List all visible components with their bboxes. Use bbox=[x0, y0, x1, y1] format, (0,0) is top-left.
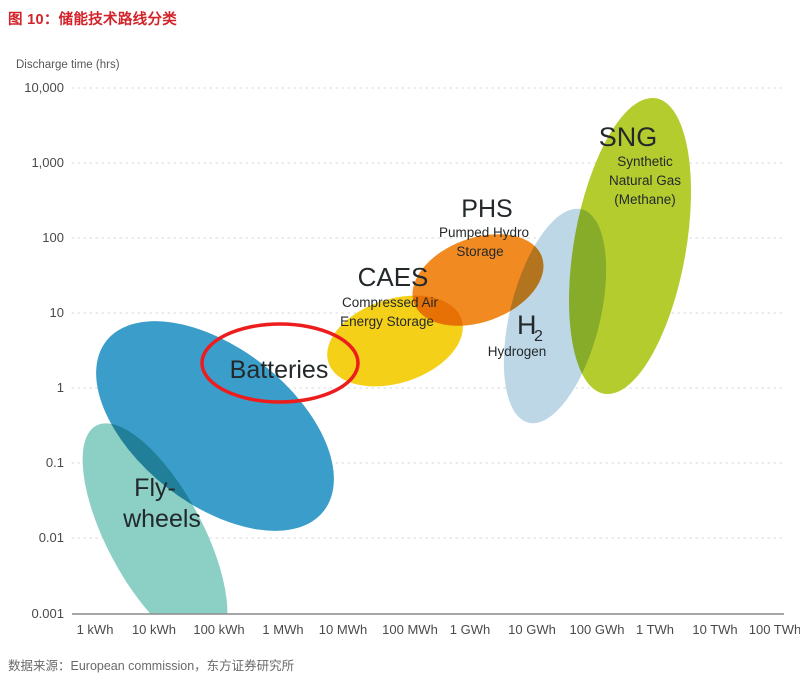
sng-title: SNG bbox=[599, 122, 658, 152]
x-tick-4: 10 MWh bbox=[319, 622, 367, 637]
y-tick-0: 10,000 bbox=[24, 80, 64, 95]
phs-sub-1: Storage bbox=[456, 244, 503, 259]
caes-sub-0: Compressed Air bbox=[342, 295, 439, 310]
y-tick-4: 1 bbox=[57, 380, 64, 395]
x-tick-0: 1 kWh bbox=[77, 622, 114, 637]
figure-title: 图 10：储能技术路线分类 bbox=[8, 8, 177, 29]
chart-area: Discharge time (hrs) 10,000 1,000 100 10… bbox=[0, 46, 800, 646]
x-axis-ticks: 1 kWh 10 kWh 100 kWh 1 MWh 10 MWh 100 MW… bbox=[77, 622, 800, 637]
storage-technology-scatter-chart: Discharge time (hrs) 10,000 1,000 100 10… bbox=[0, 46, 800, 646]
y-tick-5: 0.1 bbox=[46, 455, 64, 470]
x-tick-8: 100 GWh bbox=[570, 622, 625, 637]
y-tick-1: 1,000 bbox=[31, 155, 64, 170]
caes-title: CAES bbox=[358, 262, 429, 292]
y-tick-2: 100 bbox=[42, 230, 64, 245]
sng-sub-2: (Methane) bbox=[614, 192, 676, 207]
hydrogen-title-subscript: 2 bbox=[534, 328, 543, 345]
x-tick-10: 10 TWh bbox=[692, 622, 737, 637]
y-tick-7: 0.001 bbox=[31, 606, 64, 621]
batteries-title: Batteries bbox=[230, 356, 329, 384]
bubble-label-batteries: Batteries bbox=[230, 356, 329, 384]
x-tick-6: 1 GWh bbox=[450, 622, 490, 637]
sng-sub-1: Natural Gas bbox=[609, 173, 681, 188]
y-tick-3: 10 bbox=[50, 305, 64, 320]
y-axis-title: Discharge time (hrs) bbox=[16, 59, 120, 71]
x-tick-5: 100 MWh bbox=[382, 622, 438, 637]
hydrogen-sub-0: Hydrogen bbox=[488, 344, 547, 359]
x-tick-11: 100 TWh bbox=[749, 622, 800, 637]
source-note: 数据来源：European commission，东方证券研究所 bbox=[8, 655, 294, 674]
bubble-label-caes: CAES Compressed Air Energy Storage bbox=[340, 262, 438, 329]
x-tick-9: 1 TWh bbox=[636, 622, 674, 637]
x-tick-1: 10 kWh bbox=[132, 622, 176, 637]
y-axis-ticks: 10,000 1,000 100 10 1 0.1 0.01 0.001 bbox=[24, 80, 64, 621]
y-tick-6: 0.01 bbox=[39, 530, 64, 545]
phs-sub-0: Pumped Hydro bbox=[439, 225, 529, 240]
x-tick-3: 1 MWh bbox=[262, 622, 303, 637]
caes-sub-1: Energy Storage bbox=[340, 314, 434, 329]
phs-title: PHS bbox=[461, 195, 512, 223]
flywheels-title-line2: wheels bbox=[122, 505, 201, 533]
x-tick-2: 100 kWh bbox=[193, 622, 244, 637]
x-tick-7: 10 GWh bbox=[508, 622, 556, 637]
flywheels-title-line1: Fly- bbox=[134, 474, 176, 502]
sng-sub-0: Synthetic bbox=[617, 154, 673, 169]
